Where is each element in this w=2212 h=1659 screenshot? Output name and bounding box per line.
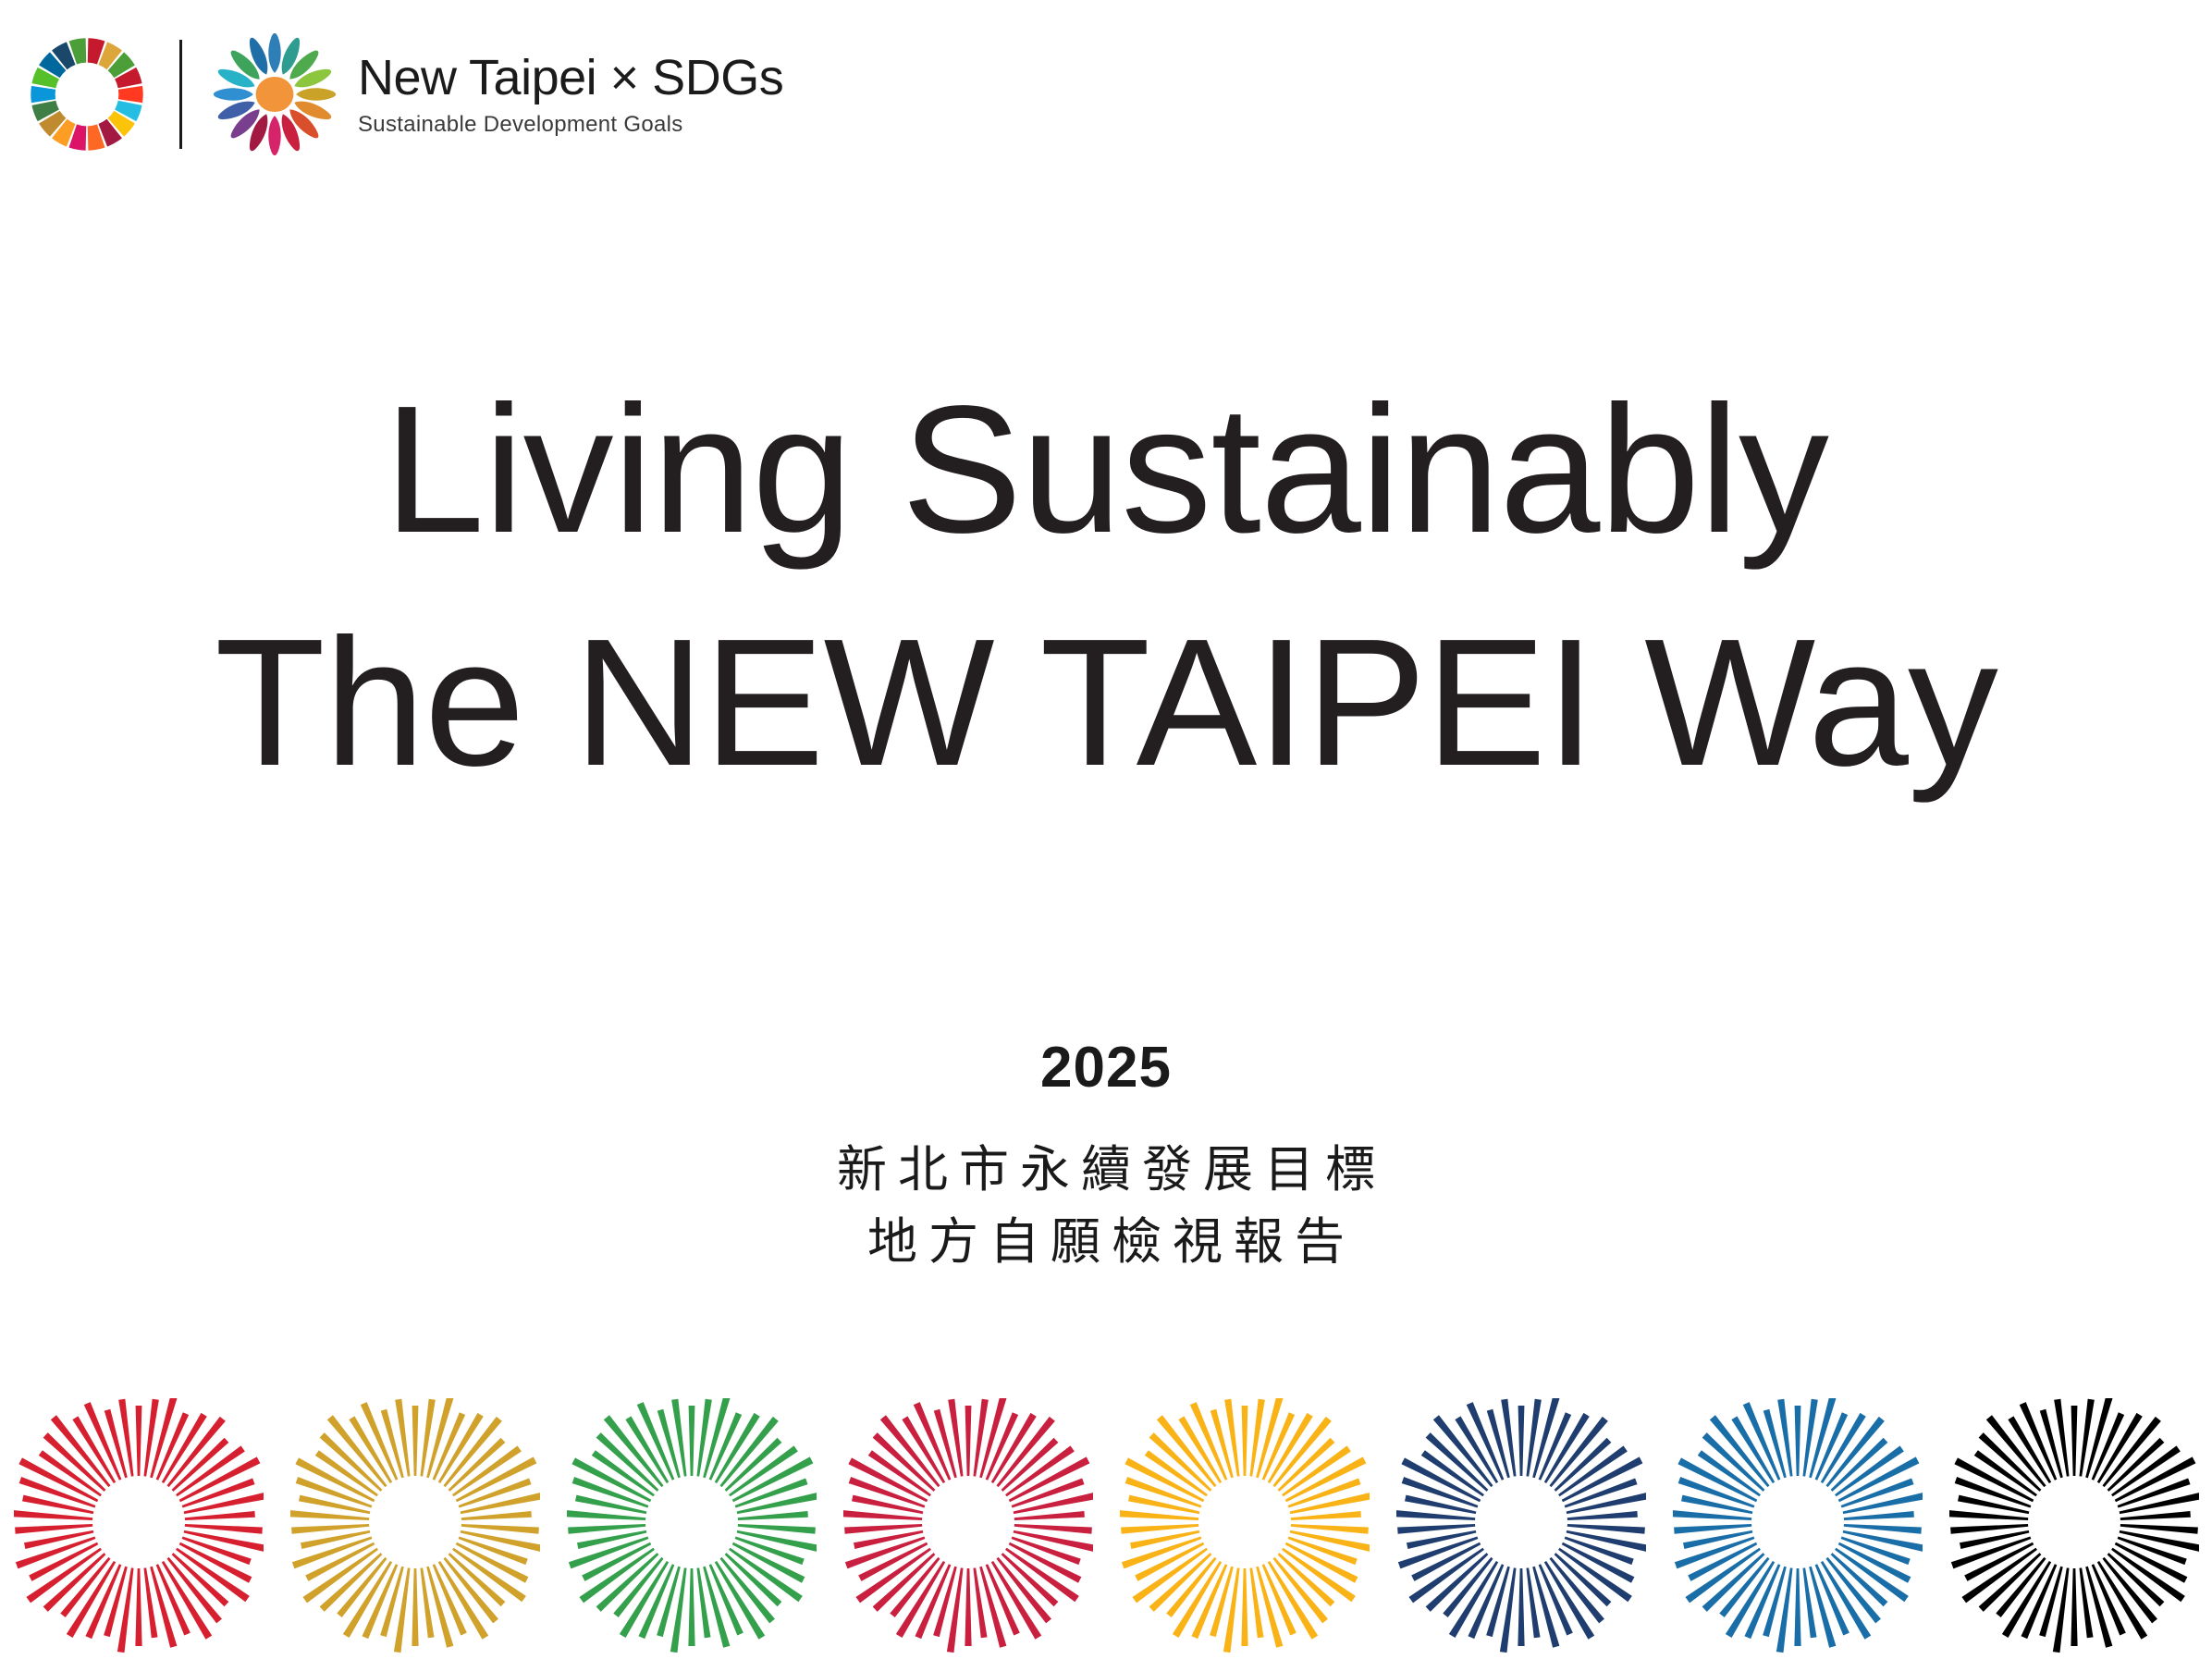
starburst-ray: [568, 1524, 645, 1534]
starburst-ray: [412, 1568, 418, 1646]
starburst-ray: [393, 1567, 410, 1653]
report-title-cn-line-2: 地方自願檢視報告: [0, 1206, 2212, 1278]
starburst-ray: [1567, 1524, 1644, 1534]
starburst-ray: [22, 1495, 93, 1515]
new-taipei-sunflower-icon: [212, 31, 338, 157]
starburst-ray: [1518, 1406, 1524, 1476]
sunflower-petal: [214, 88, 253, 100]
starburst-ray: [2120, 1524, 2197, 1534]
starburst-2-graphic: [290, 1398, 540, 1659]
starburst-ray: [1950, 1524, 2028, 1534]
starburst-ray: [1682, 1530, 1751, 1549]
starburst-ray: [696, 1399, 711, 1477]
starburst-ray: [1794, 1568, 1800, 1646]
starburst-ray: [1241, 1406, 1247, 1476]
starburst-5: [1120, 1398, 1370, 1659]
sdg-color-wheel-icon: [26, 33, 148, 155]
sunflower-petal: [268, 33, 280, 73]
starburst-ray: [844, 1524, 922, 1534]
logo-subtitle: Sustainable Development Goals: [358, 114, 783, 136]
starburst-ray: [300, 1530, 369, 1549]
sunflower-petal: [296, 88, 336, 100]
report-title-cn-line-1: 新北市永續發展目標: [0, 1134, 2212, 1206]
starburst-ray: [299, 1495, 370, 1515]
starburst-ray: [1397, 1524, 1475, 1534]
starburst-ray: [135, 1406, 141, 1476]
starburst-ray: [461, 1524, 538, 1534]
starburst-ray: [143, 1399, 158, 1477]
starburst-ray: [1794, 1406, 1800, 1476]
starburst-ray: [737, 1524, 815, 1534]
starburst-ray: [1959, 1530, 2028, 1549]
starburst-ray: [1014, 1524, 1091, 1534]
starburst-ray: [688, 1568, 694, 1646]
starburst-ray: [2071, 1406, 2077, 1476]
starburst-ray: [965, 1406, 971, 1476]
starburst-4: [843, 1398, 1093, 1659]
sdg-wheel-segment: [118, 86, 143, 103]
starburst-1-graphic: [14, 1398, 264, 1659]
starburst-ray: [1014, 1511, 1084, 1520]
starburst-ray: [1776, 1567, 1792, 1653]
starburst-ray: [1121, 1524, 1198, 1534]
starburst-ray: [948, 1399, 963, 1477]
starburst-ray: [1674, 1524, 1751, 1534]
starburst-ray: [946, 1567, 963, 1653]
starburst-ray: [1681, 1495, 1752, 1515]
hero-title-line-2: The NEW TAIPEI Way: [0, 586, 2212, 819]
starburst-ray: [2120, 1511, 2190, 1520]
starburst-ray: [1290, 1524, 1368, 1534]
starburst-3: [567, 1398, 817, 1659]
starburst-ray: [1223, 1567, 1239, 1653]
hero-title-line-1: Living Sustainably: [0, 353, 2212, 586]
starburst-ray: [670, 1567, 686, 1653]
sunflower-petal: [268, 116, 280, 155]
starburst-ray: [184, 1524, 262, 1534]
starburst-ray: [1290, 1511, 1360, 1520]
starburst-ray: [461, 1511, 531, 1520]
starburst-ray: [671, 1399, 686, 1477]
year-label: 2025: [0, 1034, 2212, 1102]
starburst-ray: [23, 1530, 92, 1549]
starburst-ray: [1128, 1495, 1199, 1515]
starburst-ray: [853, 1530, 922, 1549]
starburst-6: [1396, 1398, 1646, 1659]
starburst-ray: [184, 1511, 254, 1520]
starburst-ray: [2071, 1568, 2077, 1646]
starburst-ray: [965, 1568, 971, 1646]
starburst-ray: [973, 1399, 988, 1477]
starburst-ray: [1802, 1399, 1817, 1477]
starburst-ray: [1958, 1495, 2029, 1515]
starburst-ray: [1499, 1567, 1516, 1653]
starburst-6-graphic: [1396, 1398, 1646, 1659]
starburst-ray: [2079, 1399, 2094, 1477]
subtitle-block: 2025 新北市永續發展目標 地方自願檢視報告: [0, 1034, 2212, 1278]
starburst-ray: [117, 1567, 133, 1653]
starburst-ray: [2054, 1399, 2069, 1477]
hero-title: Living Sustainably The NEW TAIPEI Way: [0, 353, 2212, 819]
starburst-ray: [576, 1530, 645, 1549]
starburst-ray: [412, 1406, 418, 1476]
logo-wordmark: New Taipei × SDGs Sustainable Developmen…: [358, 53, 783, 136]
starburst-ray: [291, 1524, 369, 1534]
sunflower-center: [256, 77, 294, 112]
starburst-ray: [852, 1495, 923, 1515]
starburst-2: [290, 1398, 540, 1659]
starburst-ray: [2052, 1567, 2069, 1653]
starburst-7-graphic: [1673, 1398, 1923, 1659]
starburst-ray: [1843, 1524, 1921, 1534]
starburst-ray: [1567, 1511, 1637, 1520]
starburst-decoration-row: [0, 1398, 2212, 1659]
logo-title: New Taipei × SDGs: [358, 53, 783, 103]
starburst-ray: [1518, 1568, 1524, 1646]
starburst-ray: [1406, 1530, 1475, 1549]
starburst-7: [1673, 1398, 1923, 1659]
starburst-ray: [1526, 1399, 1541, 1477]
slide-root: New Taipei × SDGs Sustainable Developmen…: [0, 0, 2212, 1659]
starburst-4-graphic: [843, 1398, 1093, 1659]
starburst-ray: [1843, 1511, 1913, 1520]
starburst-ray: [737, 1511, 807, 1520]
starburst-ray: [1405, 1495, 1476, 1515]
logo-lockup: New Taipei × SDGs Sustainable Developmen…: [26, 30, 783, 159]
starburst-ray: [1777, 1399, 1792, 1477]
starburst-ray: [118, 1399, 133, 1477]
starburst-ray: [135, 1568, 141, 1646]
starburst-3-graphic: [567, 1398, 817, 1659]
starburst-5-graphic: [1120, 1398, 1370, 1659]
starburst-1: [14, 1398, 264, 1659]
starburst-ray: [1501, 1399, 1516, 1477]
starburst-ray: [1241, 1568, 1247, 1646]
starburst-ray: [1224, 1399, 1239, 1477]
starburst-ray: [688, 1406, 694, 1476]
starburst-ray: [420, 1399, 435, 1477]
starburst-ray: [1249, 1399, 1264, 1477]
sdg-wheel-segment: [31, 86, 55, 103]
starburst-ray: [575, 1495, 646, 1515]
starburst-ray: [15, 1524, 92, 1534]
starburst-8-graphic: [1949, 1398, 2199, 1659]
starburst-ray: [1129, 1530, 1198, 1549]
vertical-divider-icon: [179, 40, 182, 149]
starburst-8: [1949, 1398, 2199, 1659]
starburst-ray: [395, 1399, 410, 1477]
